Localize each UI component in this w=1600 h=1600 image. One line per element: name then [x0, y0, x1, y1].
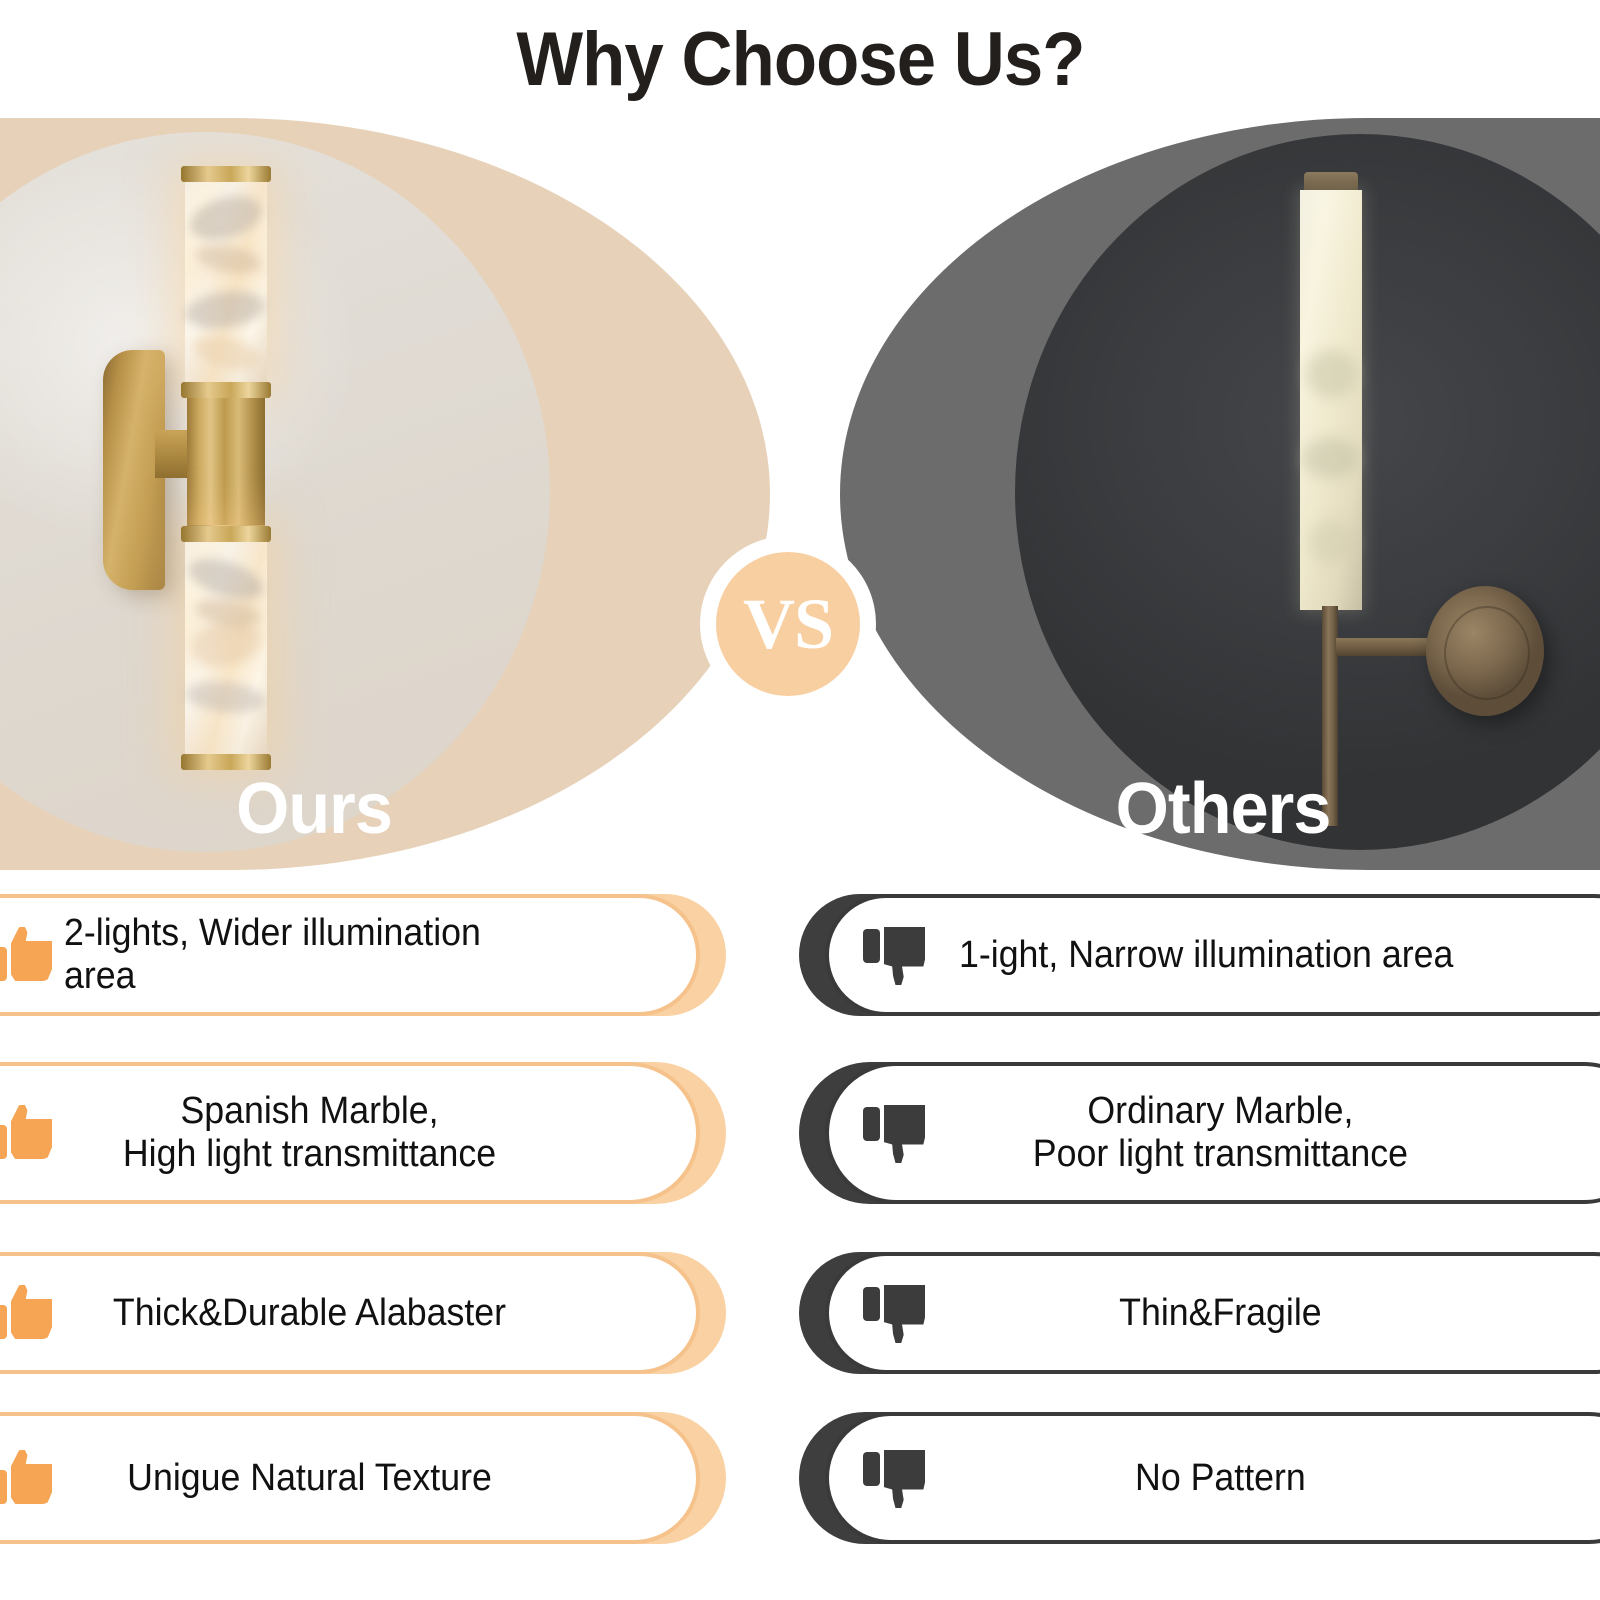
pro-pill[interactable]: 2-lights, Wider illumination area: [0, 894, 700, 1016]
others-shade: [1300, 190, 1362, 610]
ours-label: Ours: [236, 768, 392, 850]
con-pill-body: 1-ight, Narrow illumination area: [825, 894, 1600, 1016]
vs-label: VS: [743, 588, 833, 660]
ours-collar-mid-upper: [181, 382, 271, 398]
thumbs-up-icon-slot: [0, 1103, 64, 1163]
thumbs-up-icon-slot: [0, 1283, 64, 1343]
ours-collar-mid-lower: [181, 526, 271, 542]
pro-text: Unigue Natural Texture: [83, 1457, 677, 1500]
ours-lower-shade: [185, 530, 267, 762]
thumbs-down-icon-slot: [829, 1281, 959, 1345]
pro-pill-body: 2-lights, Wider illumination area: [0, 894, 700, 1016]
con-pill-body: Ordinary Marble, Poor light transmittanc…: [825, 1062, 1600, 1204]
thumbs-up-icon: [0, 1448, 52, 1508]
con-pill-body: No Pattern: [825, 1412, 1600, 1544]
thumbs-down-icon-slot: [829, 1446, 959, 1510]
ours-panel: [0, 118, 770, 870]
others-panel: [840, 118, 1600, 870]
ours-upper-shade: [185, 176, 267, 388]
pro-text: Thick&Durable Alabaster: [83, 1292, 677, 1335]
con-pill[interactable]: Thin&Fragile: [825, 1252, 1600, 1374]
pro-text: Spanish Marble, High light transmittance: [83, 1090, 677, 1175]
thumbs-up-icon: [0, 925, 52, 985]
others-label: Others: [1116, 768, 1331, 850]
pro-pill-body: Thick&Durable Alabaster: [0, 1252, 700, 1374]
others-wall-plate: [1426, 586, 1544, 716]
others-product-image: [1230, 146, 1450, 746]
con-pill-body: Thin&Fragile: [825, 1252, 1600, 1374]
thumbs-up-icon-slot: [0, 925, 64, 985]
thumbs-up-icon-slot: [0, 1448, 64, 1508]
thumbs-up-icon: [0, 1283, 52, 1343]
pro-pill-body: Unigue Natural Texture: [0, 1412, 700, 1544]
con-text: Thin&Fragile: [980, 1292, 1600, 1335]
thumbs-up-icon: [0, 1103, 52, 1163]
ours-brass-stem: [187, 386, 265, 534]
thumbs-down-icon: [863, 1281, 925, 1345]
pro-pill-body: Spanish Marble, High light transmittance: [0, 1062, 700, 1204]
infographic-page: Why Choose Us?: [0, 0, 1600, 1600]
feature-comparison-list: 2-lights, Wider illumination area 1-ight…: [0, 880, 1600, 1600]
con-pill[interactable]: No Pattern: [825, 1412, 1600, 1544]
pro-pill[interactable]: Spanish Marble, High light transmittance: [0, 1062, 700, 1204]
ours-collar-top: [181, 166, 271, 182]
con-pill[interactable]: 1-ight, Narrow illumination area: [825, 894, 1600, 1016]
vs-badge: VS: [700, 536, 876, 712]
page-title-container: Why Choose Us?: [0, 0, 1600, 118]
hero-comparison: Ours Others VS: [0, 118, 1600, 870]
con-text: No Pattern: [980, 1457, 1600, 1500]
thumbs-down-icon: [863, 923, 925, 987]
thumbs-down-icon: [863, 1446, 925, 1510]
page-title: Why Choose Us?: [516, 16, 1084, 103]
pro-pill[interactable]: Unigue Natural Texture: [0, 1412, 700, 1544]
pro-text: 2-lights, Wider illumination area: [64, 912, 658, 997]
con-text: 1-ight, Narrow illumination area: [959, 934, 1600, 977]
thumbs-down-icon-slot: [829, 1101, 959, 1165]
con-text: Ordinary Marble, Poor light transmittanc…: [980, 1090, 1600, 1175]
thumbs-down-icon: [863, 1101, 925, 1165]
ours-product-image: [95, 138, 295, 778]
con-pill[interactable]: Ordinary Marble, Poor light transmittanc…: [825, 1062, 1600, 1204]
vs-badge-circle: VS: [716, 552, 860, 696]
thumbs-down-icon-slot: [829, 923, 959, 987]
pro-pill[interactable]: Thick&Durable Alabaster: [0, 1252, 700, 1374]
